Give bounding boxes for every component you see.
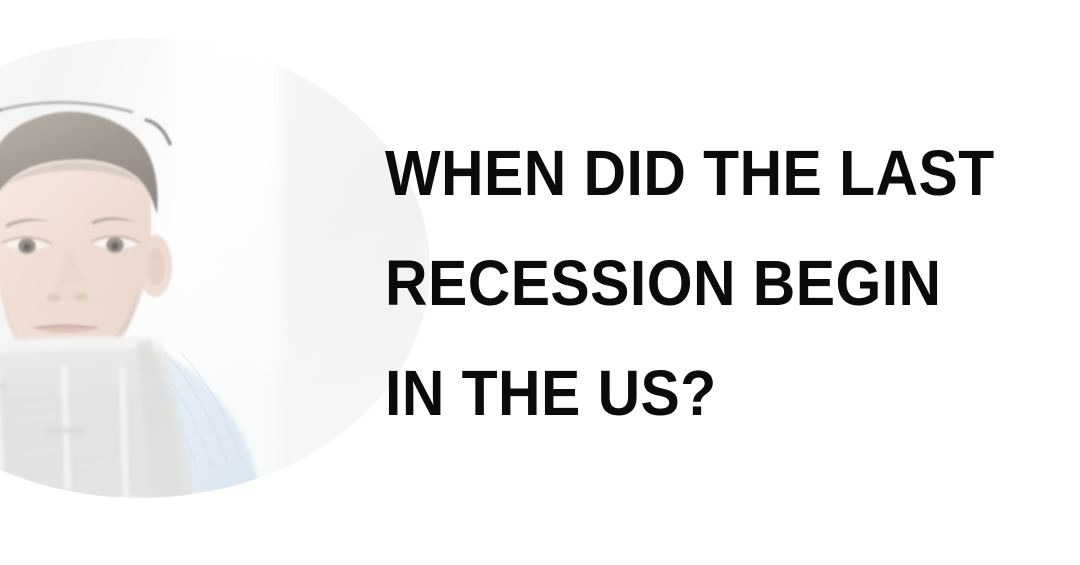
portrait-photo-svg <box>0 38 430 498</box>
portrait-photo <box>0 38 430 498</box>
headline-line-2: RECESSION BEGIN <box>385 228 992 338</box>
headline: WHEN DID THE LAST RECESSION BEGIN IN THE… <box>385 118 1045 448</box>
poster-canvas: WHEN DID THE LAST RECESSION BEGIN IN THE… <box>0 0 1080 565</box>
headline-line-1: WHEN DID THE LAST <box>385 118 992 228</box>
headline-line-3: IN THE US? <box>385 338 992 448</box>
photo-wash-overlay <box>0 38 430 498</box>
